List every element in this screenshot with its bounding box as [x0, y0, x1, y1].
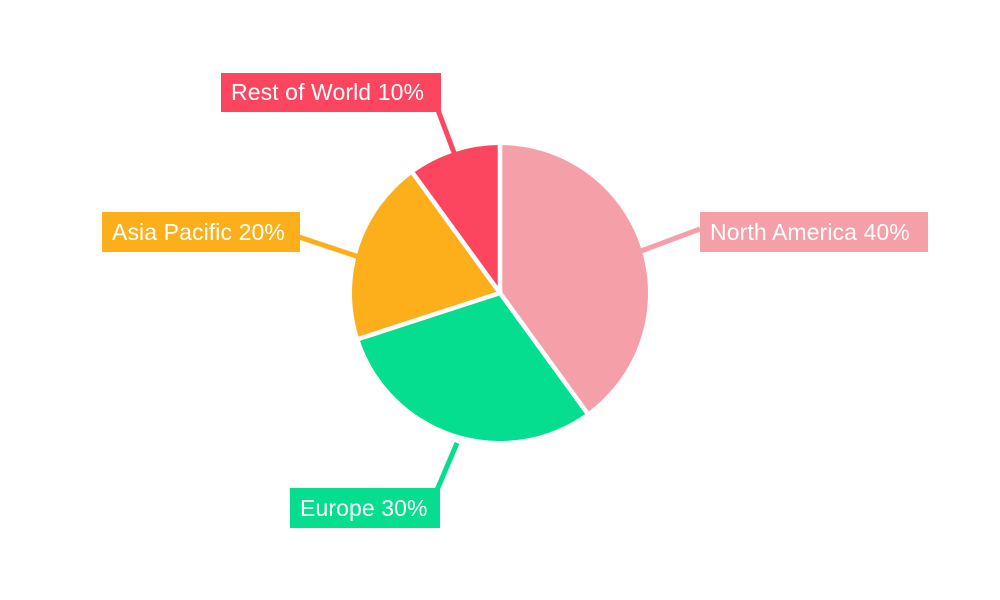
pie-label-asia-pacific[interactable]: Asia Pacific 20%	[102, 212, 300, 252]
pie-label-north-america[interactable]: North America 40%	[700, 212, 928, 252]
leader-line-rest-of-world	[438, 110, 456, 158]
leader-line-asia-pacific	[299, 237, 359, 257]
pie-label-rest-of-world[interactable]: Rest of World 10%	[221, 73, 441, 112]
pie-label-europe[interactable]: Europe 30%	[290, 488, 440, 528]
pie-label-north-america-text: North America 40%	[710, 221, 910, 244]
pie-label-rest-of-world-text: Rest of World 10%	[231, 81, 424, 104]
leader-line-europe	[437, 443, 457, 490]
pie-label-europe-text: Europe 30%	[300, 497, 428, 520]
pie-chart-canvas	[0, 0, 1000, 600]
pie-label-asia-pacific-text: Asia Pacific 20%	[112, 221, 285, 244]
leader-line-north-america	[641, 229, 700, 251]
pie-chart-figure: North America 40% Europe 30% Asia Pacifi…	[0, 0, 1000, 600]
